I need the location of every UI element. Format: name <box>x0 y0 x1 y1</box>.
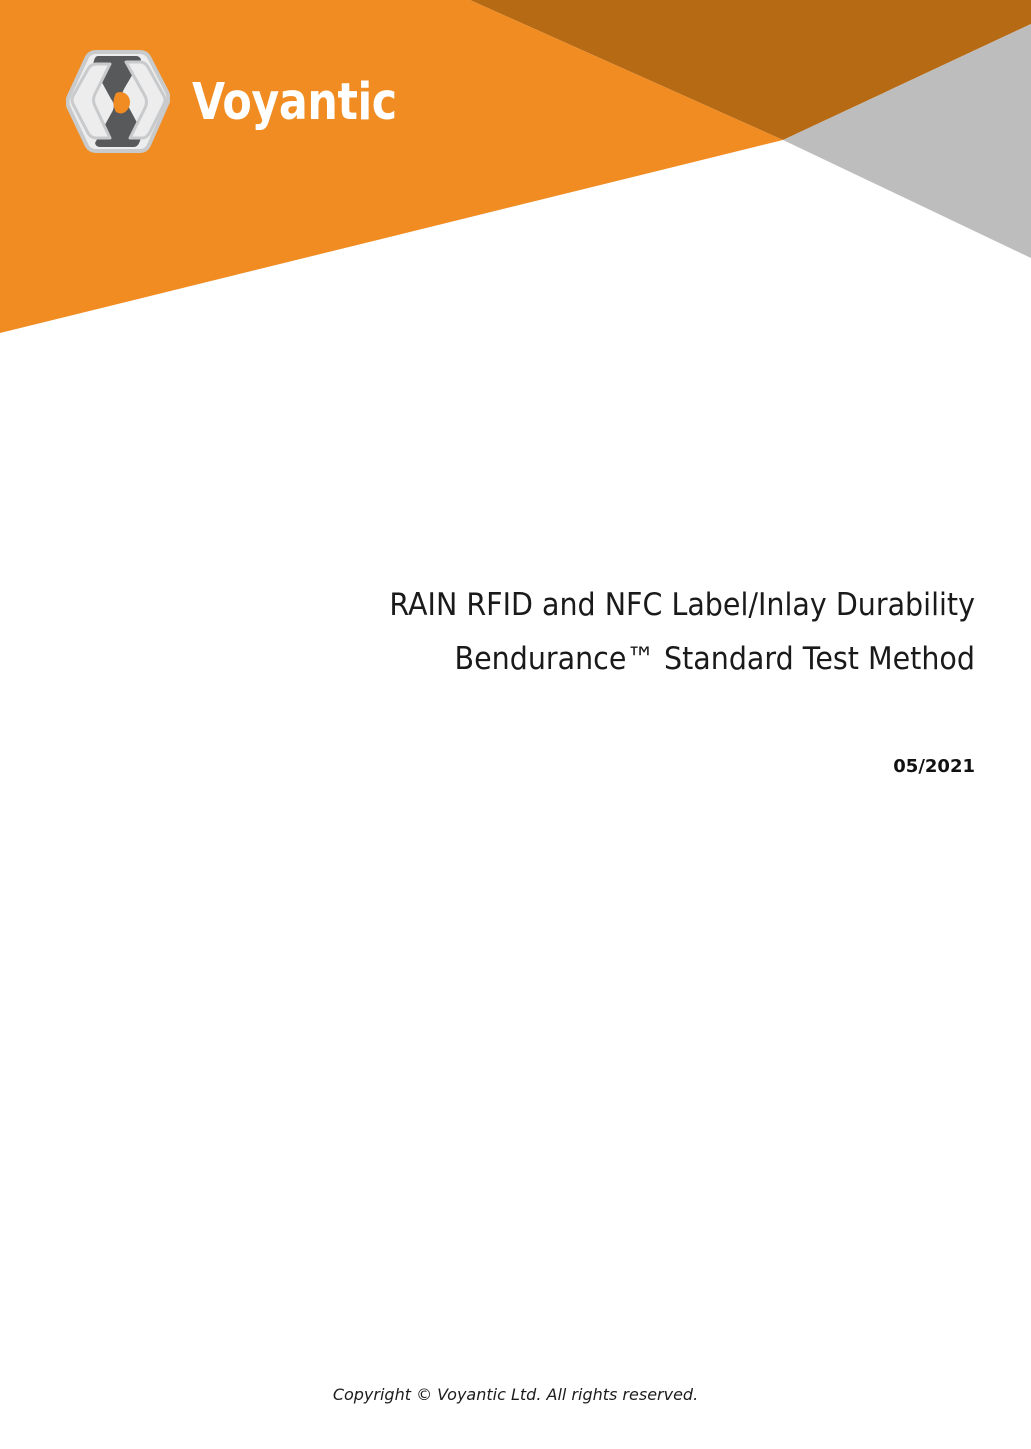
document-date: 05/2021 <box>180 756 975 777</box>
title-line-1: RAIN RFID and NFC Label/Inlay Durability <box>244 578 975 632</box>
title-line-2: Bendurance™ Standard Test Method <box>244 632 975 686</box>
brand-logo: Voyantic <box>66 47 436 157</box>
page-title: RAIN RFID and NFC Label/Inlay Durability… <box>180 578 975 686</box>
dark-orange-wedge <box>470 0 1031 140</box>
gray-wedge <box>783 24 1031 258</box>
brand-wordmark: Voyantic <box>192 77 397 128</box>
voyantic-hexagon-logo-icon <box>66 46 170 158</box>
footer-copyright: Copyright © Voyantic Ltd. All rights res… <box>0 1385 1031 1404</box>
cover-page: Voyantic RAIN RFID and NFC Label/Inlay D… <box>0 0 1031 1449</box>
